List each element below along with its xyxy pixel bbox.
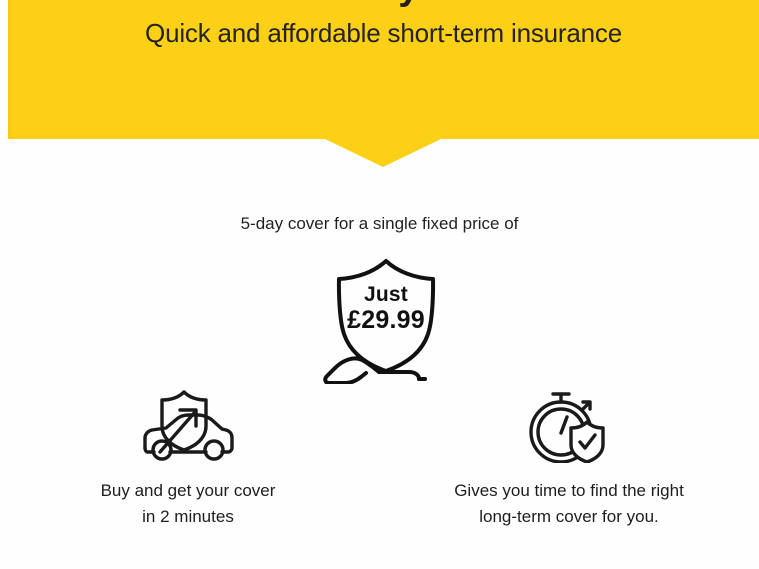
feature-caption-line-1: Buy and get your cover <box>28 478 348 504</box>
cropped-headline-container: Buy <box>8 0 759 8</box>
promo-page: Buy Quick and affordable short-term insu… <box>0 0 759 569</box>
feature-caption-line-1: Gives you time to find the right <box>409 478 729 504</box>
feature-caption-line-2: in 2 minutes <box>28 504 348 530</box>
banner-notch-icon <box>325 139 441 167</box>
shield-in-hand-icon <box>313 256 459 384</box>
banner-subtitle: Quick and affordable short-term insuranc… <box>8 16 759 50</box>
feature-buy-quickly: Buy and get your cover in 2 minutes <box>28 386 348 530</box>
cropped-headline: Buy <box>8 0 759 8</box>
feature-time-to-choose: Gives you time to find the right long-te… <box>409 386 729 530</box>
feature-caption: Gives you time to find the right long-te… <box>409 478 729 530</box>
feature-caption-line-2: long-term cover for you. <box>409 504 729 530</box>
car-shield-arrow-icon <box>28 386 348 466</box>
hero-banner: Buy Quick and affordable short-term insu… <box>8 0 759 139</box>
feature-caption: Buy and get your cover in 2 minutes <box>28 478 348 530</box>
price-caption: 5-day cover for a single fixed price of <box>0 212 759 236</box>
stopwatch-shield-check-icon <box>409 386 729 466</box>
